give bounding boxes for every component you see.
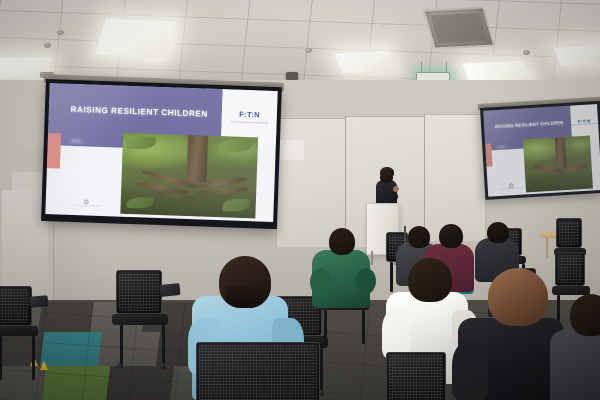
slide-date: 2021 bbox=[69, 138, 82, 144]
podium-leg-left bbox=[371, 251, 373, 265]
footer-logo-text: KNOWLEDGE OPTIONS bbox=[71, 205, 101, 208]
ceiling-light-3 bbox=[334, 51, 397, 74]
sprinkler-head-4 bbox=[523, 50, 530, 55]
whiteboard-panel-far bbox=[424, 114, 486, 242]
side-table-leg-left bbox=[546, 238, 548, 258]
sprinkler-head-1 bbox=[57, 30, 64, 35]
secondary-projection-screen[interactable]: RAISING RESILIENT CHILDREN 2021 F:T:N Po… bbox=[480, 101, 600, 200]
eaton-logo-icon-secondary: F:T:N bbox=[578, 118, 591, 124]
exit-sign-stem-left bbox=[421, 62, 422, 72]
slide-canvas: RAISING RESILIENT CHILDREN 2021 F:T:N Po… bbox=[45, 83, 277, 222]
eaton-tagline: Powering Business Worldwide bbox=[230, 120, 268, 124]
slide-date-secondary: 2021 bbox=[496, 145, 507, 151]
wall-seam-2 bbox=[424, 114, 425, 242]
footer-logo-icon bbox=[83, 199, 88, 204]
ceiling-camera bbox=[286, 72, 298, 80]
main-projection-screen[interactable]: RAISING RESILIENT CHILDREN 2021 F:T:N Po… bbox=[41, 79, 282, 229]
wall-outlet-plate bbox=[12, 172, 42, 190]
slide-photo-tree-roots-secondary bbox=[523, 135, 593, 192]
eaton-logo-icon: F:T:N bbox=[239, 110, 260, 120]
footer-logo-text-secondary: KNOWLEDGE OPTIONS bbox=[500, 188, 522, 190]
slide-photo-tree-roots bbox=[121, 133, 258, 219]
sprinkler-head-3 bbox=[305, 48, 312, 53]
ceiling-light-5 bbox=[554, 44, 600, 66]
eaton-tagline-secondary: Powering Business Worldwide bbox=[571, 124, 598, 127]
exit-sign-stem-right bbox=[446, 62, 447, 72]
wall-notice bbox=[280, 140, 304, 160]
slide-accent-bar bbox=[47, 133, 61, 169]
room-scene: RAISING RESILIENT CHILDREN 2021 F:T:N Po… bbox=[0, 0, 600, 400]
ceiling-light-1 bbox=[95, 19, 178, 57]
slide-footer-logo: KNOWLEDGE OPTIONS bbox=[71, 199, 101, 208]
presenter-hair-back bbox=[380, 173, 393, 183]
presenter-hand bbox=[393, 186, 399, 192]
sprinkler-head-2 bbox=[44, 43, 51, 48]
slide-canvas-secondary: RAISING RESILIENT CHILDREN 2021 F:T:N Po… bbox=[483, 104, 600, 197]
hvac-ceiling-vent bbox=[423, 6, 495, 49]
